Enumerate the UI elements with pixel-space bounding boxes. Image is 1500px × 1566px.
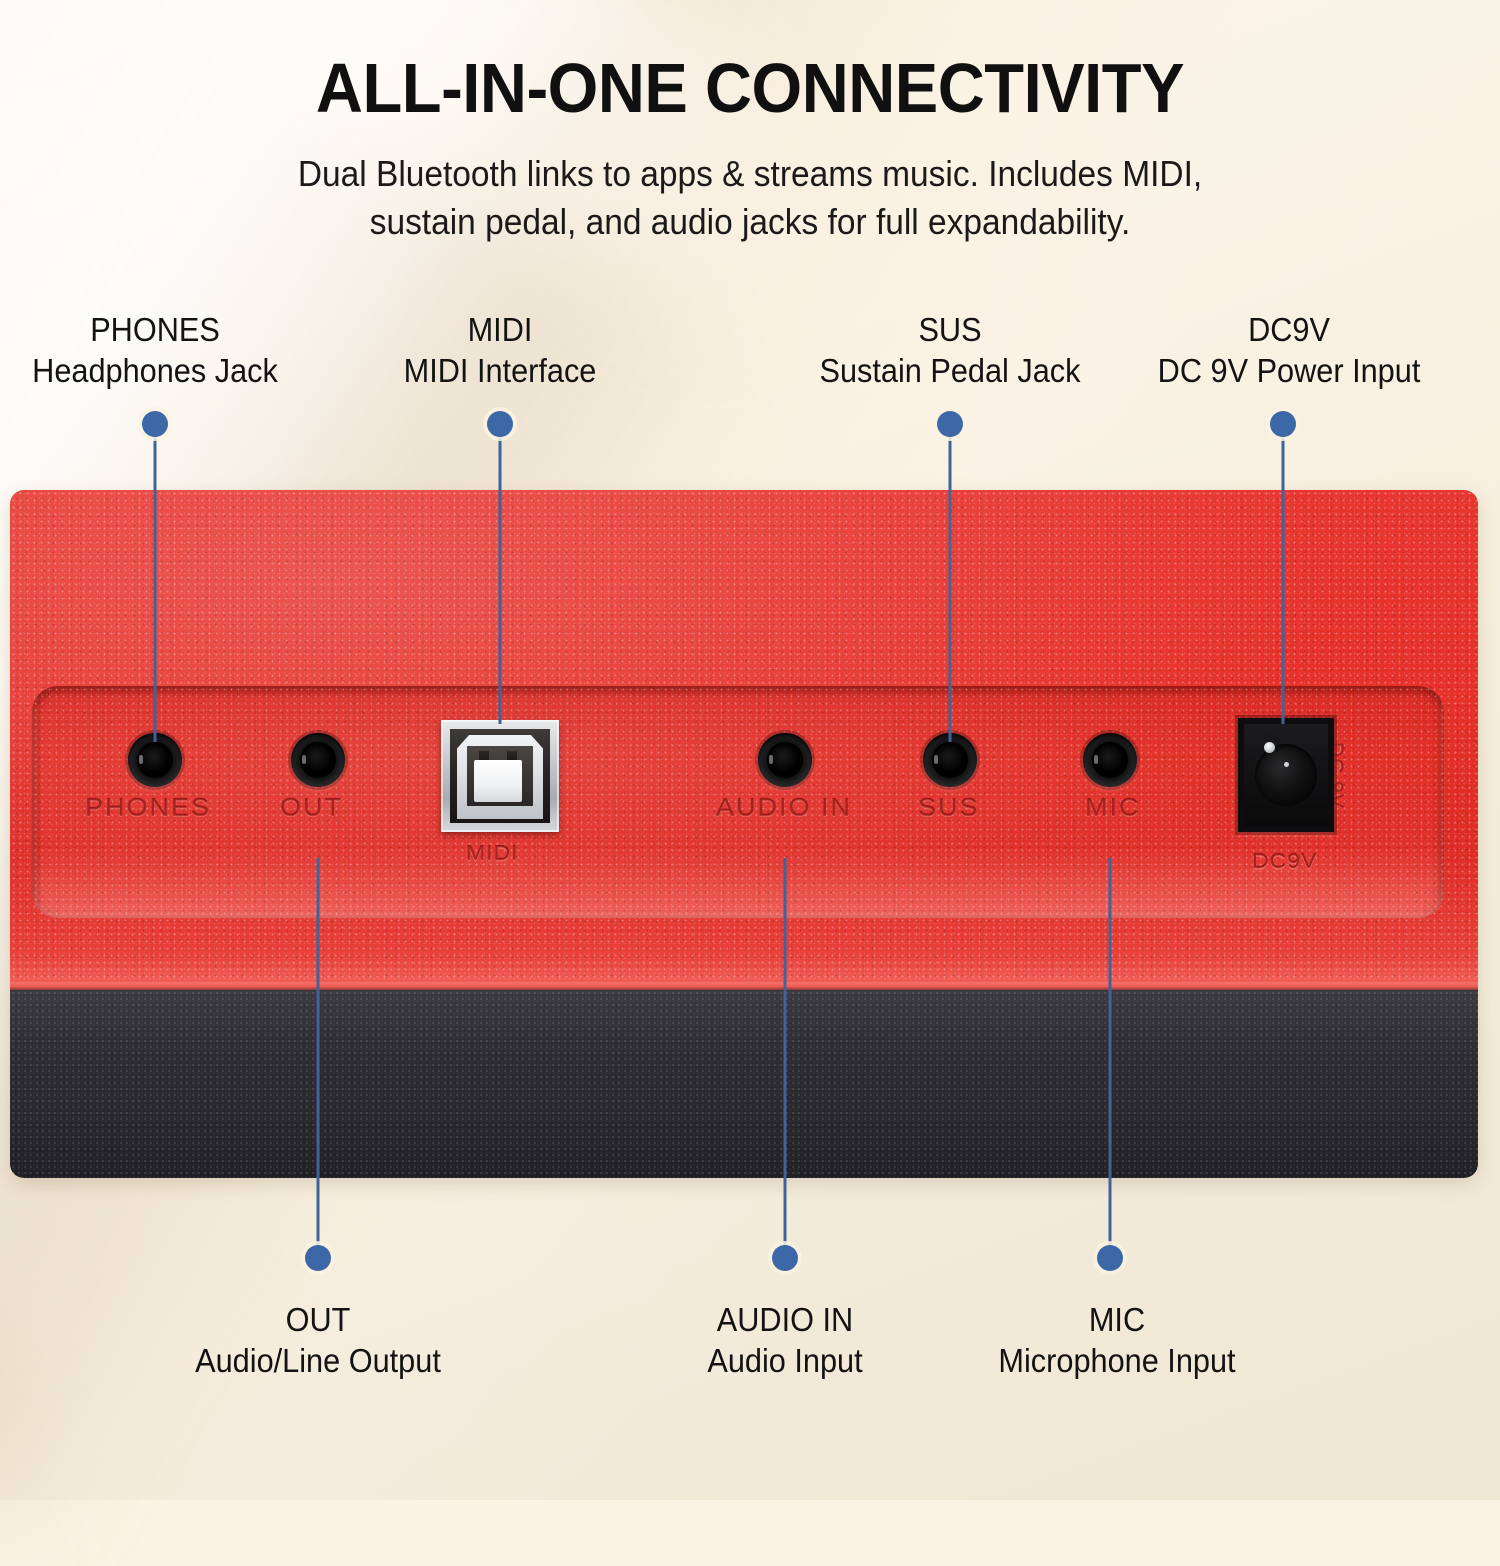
callout-sus-line — [949, 424, 952, 742]
callout-midi-line — [499, 424, 502, 724]
emboss-label-sus: SUS — [918, 794, 980, 823]
callout-midi-desc: MIDI Interface — [404, 350, 597, 392]
callout-dc9v-caption: DC9V DC 9V Power Input — [1158, 310, 1421, 392]
dc-barrel-recess — [1255, 744, 1317, 806]
callout-dc9v-line — [1282, 424, 1285, 724]
page-subtitle: Dual Bluetooth links to apps & streams m… — [53, 150, 1448, 246]
emboss-label-audio-in: AUDIO IN — [716, 794, 852, 823]
callout-out-caption: OUT Audio/Line Output — [195, 1300, 441, 1382]
subtitle-line-2: sustain pedal, and audio jacks for full … — [53, 198, 1448, 246]
callout-audio-in-line — [784, 858, 787, 1258]
callout-midi-code: MIDI — [404, 310, 597, 350]
callout-dc9v-dot — [1270, 411, 1296, 437]
dc-center-pin — [1264, 742, 1275, 753]
emboss-label-midi: MIDI — [466, 841, 519, 866]
callout-audio-in-desc: Audio Input — [707, 1340, 862, 1382]
keyboard-rear-panel — [10, 490, 1478, 1178]
emboss-label-out: OUT — [280, 794, 343, 823]
callout-dc9v-desc: DC 9V Power Input — [1158, 350, 1421, 392]
callout-midi-caption: MIDI MIDI Interface — [404, 310, 597, 392]
callout-mic-desc: Microphone Input — [998, 1340, 1235, 1382]
callout-out-code: OUT — [195, 1300, 441, 1340]
callout-mic-code: MIC — [998, 1300, 1235, 1340]
callout-phones-code: PHONES — [32, 310, 278, 350]
page-title: ALL-IN-ONE CONNECTIVITY — [53, 48, 1448, 128]
callout-mic-caption: MIC Microphone Input — [998, 1300, 1235, 1382]
subtitle-line-1: Dual Bluetooth links to apps & streams m… — [53, 150, 1448, 198]
audio-in-jack[interactable] — [758, 733, 812, 787]
callout-dc9v-code: DC9V — [1158, 310, 1421, 350]
callout-out-line — [317, 858, 320, 1258]
mic-jack[interactable] — [1083, 733, 1137, 787]
midi-port[interactable] — [441, 720, 559, 832]
callout-audio-in-caption: AUDIO IN Audio Input — [707, 1300, 862, 1382]
callout-sus-dot — [937, 411, 963, 437]
callout-audio-in-dot — [772, 1245, 798, 1271]
dc9v-jack[interactable] — [1238, 718, 1334, 832]
callout-mic-dot — [1097, 1245, 1123, 1271]
callout-sus-caption: SUS Sustain Pedal Jack — [819, 310, 1080, 392]
emboss-label-mic: MIC — [1085, 794, 1141, 823]
callout-sus-desc: Sustain Pedal Jack — [819, 350, 1080, 392]
callout-midi-dot — [487, 411, 513, 437]
panel-black-housing — [10, 990, 1478, 1178]
callout-phones-desc: Headphones Jack — [32, 350, 278, 392]
callout-mic-line — [1109, 858, 1112, 1258]
callout-phones-line — [154, 424, 157, 742]
emboss-label-dc9v: DC9V — [1252, 849, 1317, 874]
out-jack[interactable] — [291, 733, 345, 787]
dc-specular-highlight — [1284, 762, 1289, 767]
callout-phones-caption: PHONES Headphones Jack — [32, 310, 278, 392]
midi-port-tongue — [474, 760, 522, 802]
emboss-label-phones: PHONES — [85, 794, 211, 823]
header: ALL-IN-ONE CONNECTIVITY Dual Bluetooth l… — [0, 0, 1500, 246]
callout-sus-code: SUS — [819, 310, 1080, 350]
callout-phones-dot — [142, 411, 168, 437]
callout-out-dot — [305, 1245, 331, 1271]
callout-out-desc: Audio/Line Output — [195, 1340, 441, 1382]
callout-audio-in-code: AUDIO IN — [707, 1300, 862, 1340]
